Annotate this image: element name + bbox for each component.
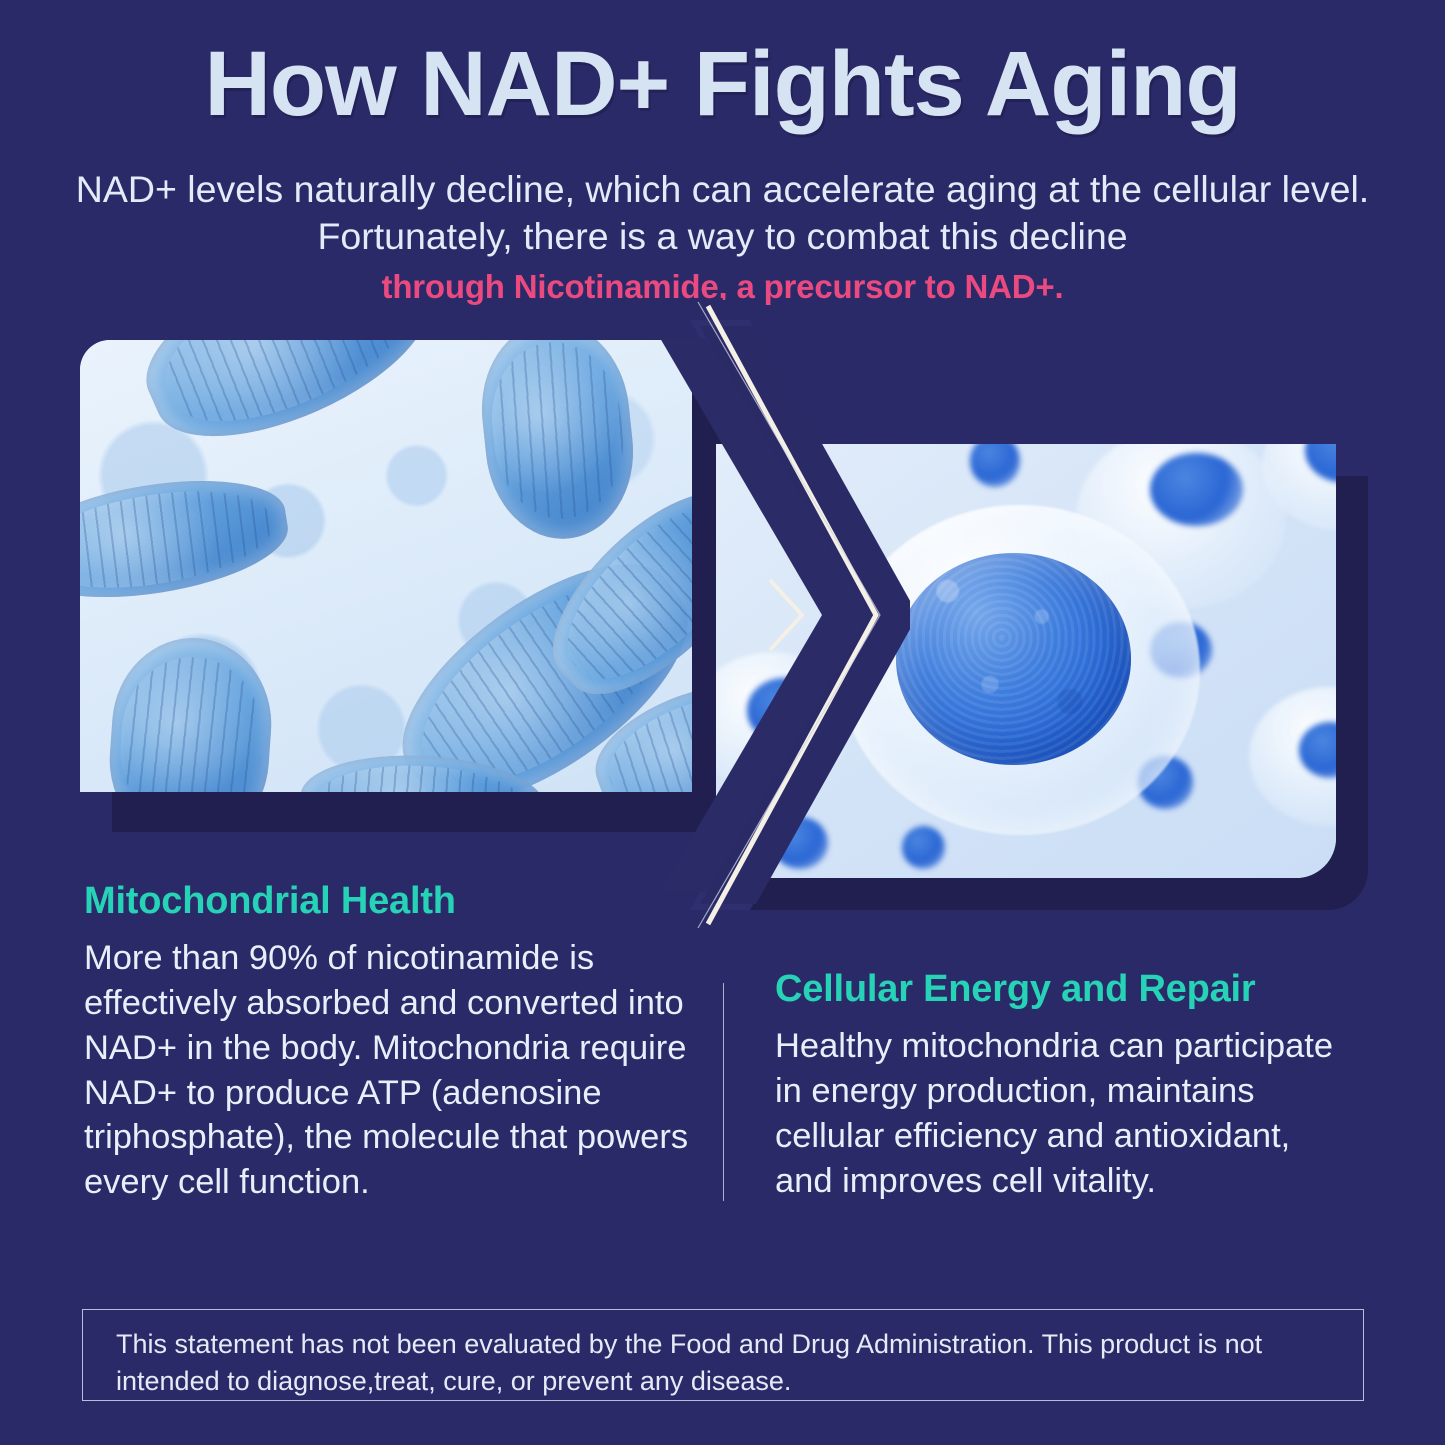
mitochondria-image [80,340,692,792]
cell-nucleus-main [896,553,1132,766]
page-subtitle: NAD+ levels naturally decline, which can… [70,166,1375,260]
infographic-canvas: How NAD+ Fights Aging NAD+ levels natura… [0,0,1445,1445]
page-title: How NAD+ Fights Aging [0,38,1445,130]
cell-nucleus-small [1150,453,1243,527]
disclaimer-text: This statement has not been evaluated by… [116,1326,1338,1400]
column-heading-cellular-energy-and-repair: Cellular Energy and Repair [775,968,1345,1011]
column-body-mitochondrial-health: More than 90% of nicotinamide is effecti… [84,936,704,1205]
column-divider [723,983,724,1201]
column-body-cellular-energy-and-repair: Healthy mitochondria can participate in … [775,1024,1345,1203]
column-heading-mitochondrial-health: Mitochondrial Health [84,880,704,923]
chevron-right-double-icon [630,280,910,930]
disclaimer-box: This statement has not been evaluated by… [82,1309,1364,1401]
